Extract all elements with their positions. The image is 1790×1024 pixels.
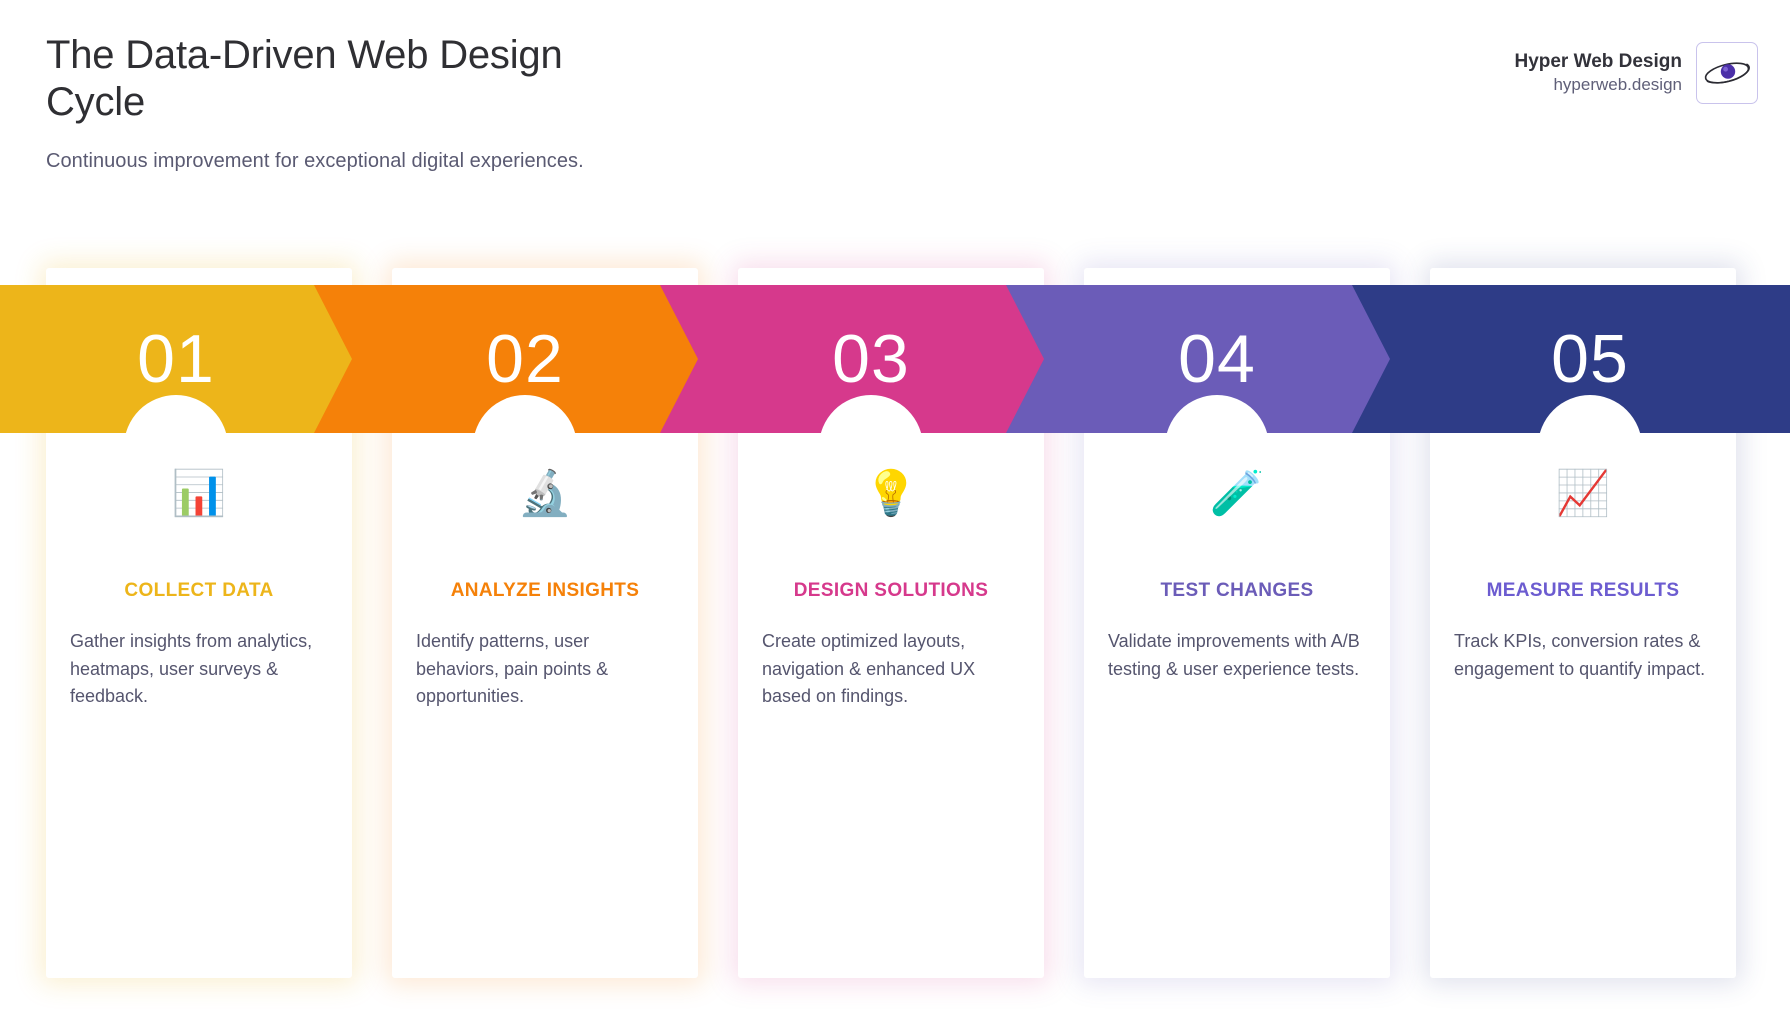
step-description-3: Create optimized layouts, navigation & e… bbox=[762, 628, 1020, 711]
step-description-2: Identify patterns, user behaviors, pain … bbox=[416, 628, 674, 711]
step-description-5: Track KPIs, conversion rates & engagemen… bbox=[1454, 628, 1712, 683]
lightbulb-icon: 💡 bbox=[738, 472, 1044, 516]
chevron-band-svg bbox=[0, 285, 1790, 433]
test-tube-icon: 🧪 bbox=[1084, 472, 1390, 516]
step-label-4: TEST CHANGES bbox=[1084, 580, 1390, 602]
step-label-3: DESIGN SOLUTIONS bbox=[738, 580, 1044, 602]
step-description-4: Validate improvements with A/B testing &… bbox=[1108, 628, 1366, 683]
microscope-icon: 🔬 bbox=[392, 472, 698, 516]
step-cards: 📊 COLLECT DATA Gather insights from anal… bbox=[0, 0, 1790, 1024]
step-label-5: MEASURE RESULTS bbox=[1430, 580, 1736, 602]
chart-increasing-icon: 📈 bbox=[1430, 472, 1736, 516]
step-label-2: ANALYZE INSIGHTS bbox=[392, 580, 698, 602]
step-description-1: Gather insights from analytics, heatmaps… bbox=[70, 628, 328, 711]
bar-chart-icon: 📊 bbox=[46, 472, 352, 516]
infographic-page: The Data-Driven Web Design Cycle Continu… bbox=[0, 0, 1790, 1024]
step-chevron-band: 01 02 03 04 05 bbox=[0, 285, 1790, 433]
step-label-1: COLLECT DATA bbox=[46, 580, 352, 602]
